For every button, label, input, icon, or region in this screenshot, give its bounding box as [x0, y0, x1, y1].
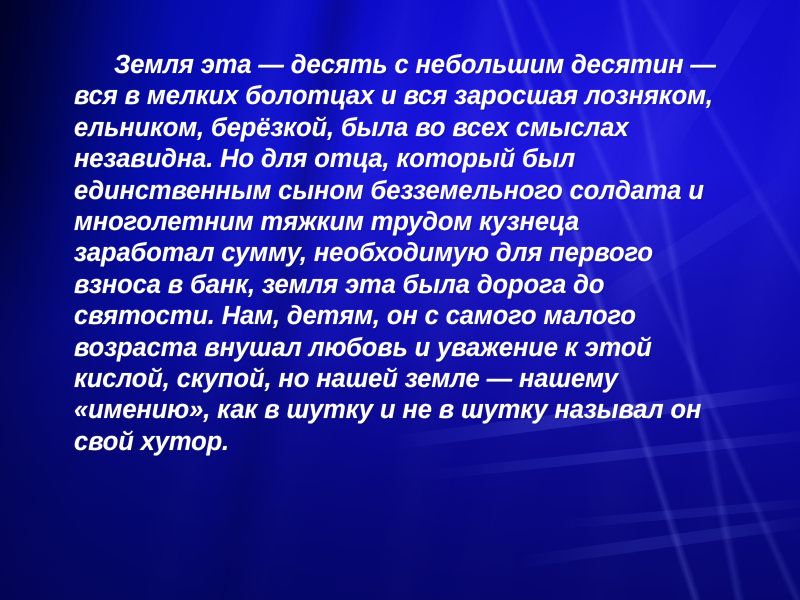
presentation-slide: Земля эта — десять с небольшим десятин —… — [0, 0, 800, 600]
slide-body-paragraph: Земля эта — десять с небольшим десятин —… — [74, 50, 724, 458]
